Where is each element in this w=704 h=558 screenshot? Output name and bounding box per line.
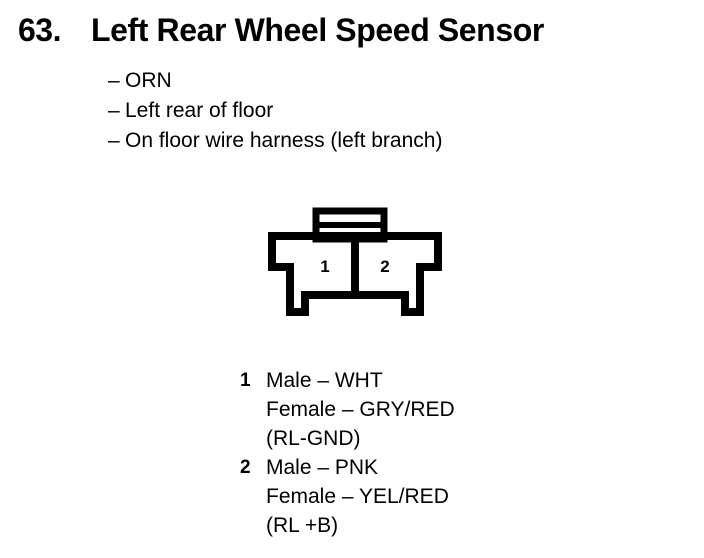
attribute-wire-color: ORN [125, 66, 172, 96]
pin-legend-circuit: (RL-GND) [266, 424, 660, 453]
attribute-item: – ORN [108, 66, 668, 96]
connector-pin-1-label: 1 [320, 257, 329, 276]
dash-bullet-icon: – [108, 126, 125, 156]
connector-outline-svg: 1 2 [265, 205, 445, 325]
entry-number: 63. [18, 14, 61, 46]
page-canvas: 63. Left Rear Wheel Speed Sensor – ORN –… [0, 0, 704, 558]
pin-legend-circuit: (RL +B) [266, 511, 660, 540]
pin-legend-group: 1 Male – WHT Female – GRY/RED (RL-GND) [240, 366, 660, 453]
pin-legend: 1 Male – WHT Female – GRY/RED (RL-GND) 2… [240, 366, 660, 540]
page-title: 63. Left Rear Wheel Speed Sensor [18, 14, 688, 46]
pin-legend-male: Male – WHT [266, 366, 660, 395]
attribute-location: Left rear of floor [125, 96, 273, 126]
connector-pin-2-label: 2 [380, 257, 389, 276]
attribute-list: – ORN – Left rear of floor – On floor wi… [108, 66, 668, 156]
pin-legend-lines: Male – WHT Female – GRY/RED (RL-GND) [266, 366, 660, 453]
pin-legend-male: Male – PNK [266, 453, 660, 482]
connector-diagram: 1 2 [265, 205, 445, 325]
pin-legend-female: Female – YEL/RED [266, 482, 660, 511]
attribute-item: – Left rear of floor [108, 96, 668, 126]
pin-legend-index: 2 [240, 453, 266, 482]
dash-bullet-icon: – [108, 66, 125, 96]
pin-legend-lines: Male – PNK Female – YEL/RED (RL +B) [266, 453, 660, 540]
attribute-item: – On floor wire harness (left branch) [108, 126, 668, 156]
dash-bullet-icon: – [108, 96, 125, 126]
attribute-harness: On floor wire harness (left branch) [125, 126, 442, 156]
entry-title: Left Rear Wheel Speed Sensor [91, 14, 544, 46]
pin-legend-female: Female – GRY/RED [266, 395, 660, 424]
pin-legend-group: 2 Male – PNK Female – YEL/RED (RL +B) [240, 453, 660, 540]
pin-legend-index: 1 [240, 366, 266, 395]
